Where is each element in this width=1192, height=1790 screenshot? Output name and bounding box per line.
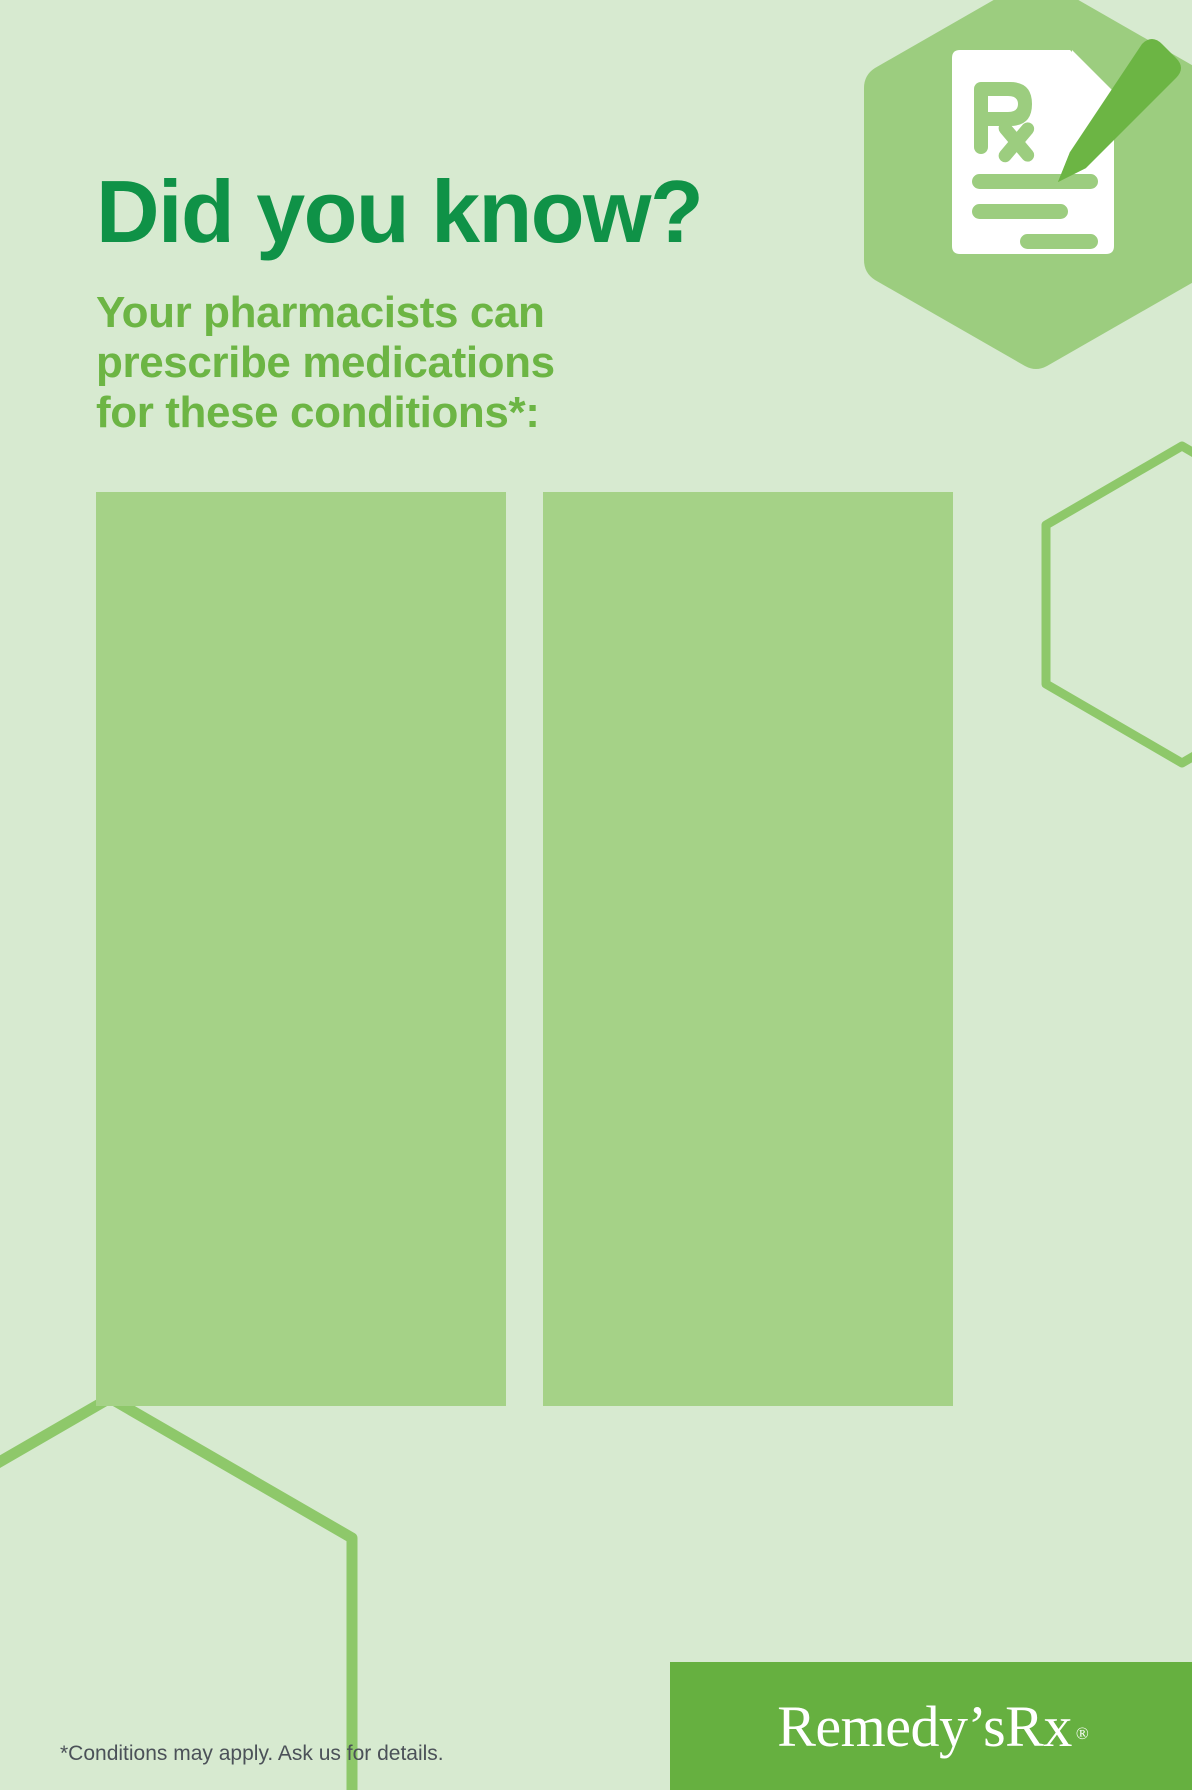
conditions-column-left bbox=[96, 492, 506, 1406]
page-subtitle-line-2: prescribe medications bbox=[96, 338, 555, 388]
page-title: Did you know? bbox=[96, 168, 702, 256]
prescription-document-icon bbox=[952, 50, 1114, 254]
footnote-disclaimer: *Conditions may apply. Ask us for detail… bbox=[60, 1741, 444, 1766]
brand-logo-bar: Remedy’sRx® bbox=[670, 1662, 1192, 1790]
page-subtitle: Your pharmacists can prescribe medicatio… bbox=[96, 288, 555, 438]
hexagon-outline-bottom-left-icon bbox=[0, 1380, 390, 1790]
brand-wordmark: Remedy’sRx bbox=[777, 1693, 1072, 1760]
registered-trademark-mark: ® bbox=[1076, 1724, 1089, 1744]
poster-canvas: Did you know? Your pharmacists can presc… bbox=[0, 0, 1192, 1790]
hexagon-outline-right-icon bbox=[1022, 432, 1192, 792]
page-subtitle-line-3: for these conditions*: bbox=[96, 388, 555, 438]
page-subtitle-line-1: Your pharmacists can bbox=[96, 288, 555, 338]
pen-icon bbox=[1058, 39, 1181, 182]
conditions-column-right bbox=[543, 492, 953, 1406]
hexagon-badge-with-rx-icon bbox=[842, 0, 1192, 420]
conditions-panels bbox=[96, 492, 953, 1406]
